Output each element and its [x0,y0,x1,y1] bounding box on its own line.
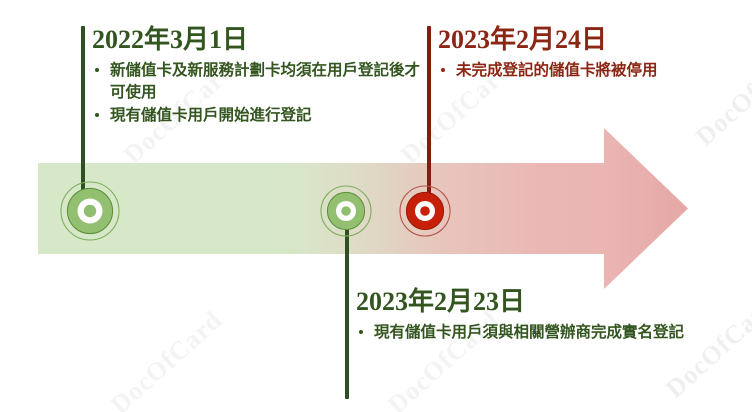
event-date-3: 2023年2月24日 [438,26,688,55]
bullet-dot-icon [441,68,445,72]
bullet-text: 現有儲值卡用戶開始進行登記 [110,107,312,124]
event-date-1: 2022年3月1日 [92,26,422,55]
bullet-text: 現有儲值卡用戶須與相關營辦商完成實名登記 [374,324,684,341]
bullet-dot-icon [95,68,99,72]
bullet-text: 未完成登記的儲值卡將被停用 [456,62,658,79]
event-date-2: 2023年2月23日 [356,288,696,317]
event-block-1: 2022年3月1日 新儲值卡及新服務計劃卡均須在用戶登記後才可使用 現有儲值卡用… [92,26,422,127]
list-item: 現有儲值卡用戶須與相關營辦商完成實名登記 [356,322,696,344]
event-bullets-2: 現有儲值卡用戶須與相關營辦商完成實名登記 [356,322,696,344]
timeline-marker-event-3[interactable] [393,179,457,243]
timeline-infographic: DocOfCard DocOfCard DocOfCard DocOfCard … [0,0,752,412]
timeline-marker-event-1[interactable] [46,167,134,255]
bullet-text: 新儲值卡及新服務計劃卡均須在用戶登記後才可使用 [110,62,420,101]
event-bullets-1: 新儲值卡及新服務計劃卡均須在用戶登記後才可使用 現有儲值卡用戶開始進行登記 [92,60,422,127]
bullet-dot-icon [95,113,99,117]
list-item: 新儲值卡及新服務計劃卡均須在用戶登記後才可使用 [92,60,422,105]
bullet-dot-icon [359,330,363,334]
timeline-marker-event-2[interactable] [314,179,378,243]
timeline-arrow-head [604,128,688,289]
list-item: 現有儲值卡用戶開始進行登記 [92,105,422,127]
event-bullets-3: 未完成登記的儲值卡將被停用 [438,60,688,82]
list-item: 未完成登記的儲值卡將被停用 [438,60,688,82]
watermark-text: DocOfCard [105,305,228,412]
watermark-text: DocOfCard [690,37,752,152]
event-block-3: 2023年2月24日 未完成登記的儲值卡將被停用 [438,26,688,82]
event-block-2: 2023年2月23日 現有儲值卡用戶須與相關營辦商完成實名登記 [356,288,696,344]
